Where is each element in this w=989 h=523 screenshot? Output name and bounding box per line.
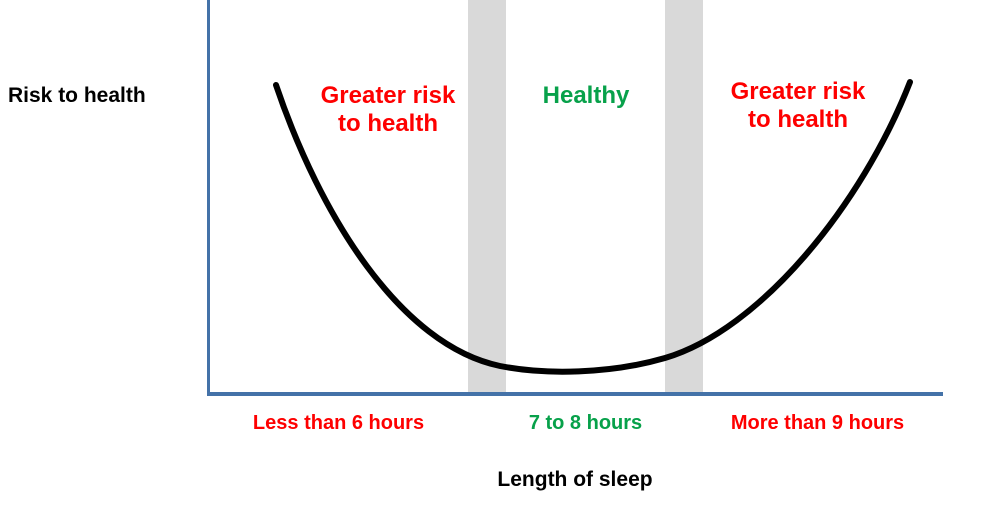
y-axis-line: [207, 0, 210, 396]
annotation-zone-left: Greater risk to health: [293, 82, 483, 138]
x-axis-title: Length of sleep: [207, 468, 943, 492]
x-tick-label-less-than-6-hours: Less than 6 hours: [216, 412, 461, 435]
annotation-zone-right: Greater risk to health: [703, 78, 893, 134]
x-axis-line: [207, 392, 943, 396]
x-tick-label-7-to-8-hours: 7 to 8 hours: [488, 412, 683, 435]
chart-canvas: Risk to health Greater risk to health He…: [0, 0, 989, 523]
grey-band-right: [665, 0, 703, 393]
y-axis-title: Risk to health: [8, 84, 146, 108]
annotation-zone-middle: Healthy: [506, 82, 666, 110]
grey-band-left: [468, 0, 506, 393]
x-tick-label-more-than-9-hours: More than 9 hours: [690, 412, 945, 435]
